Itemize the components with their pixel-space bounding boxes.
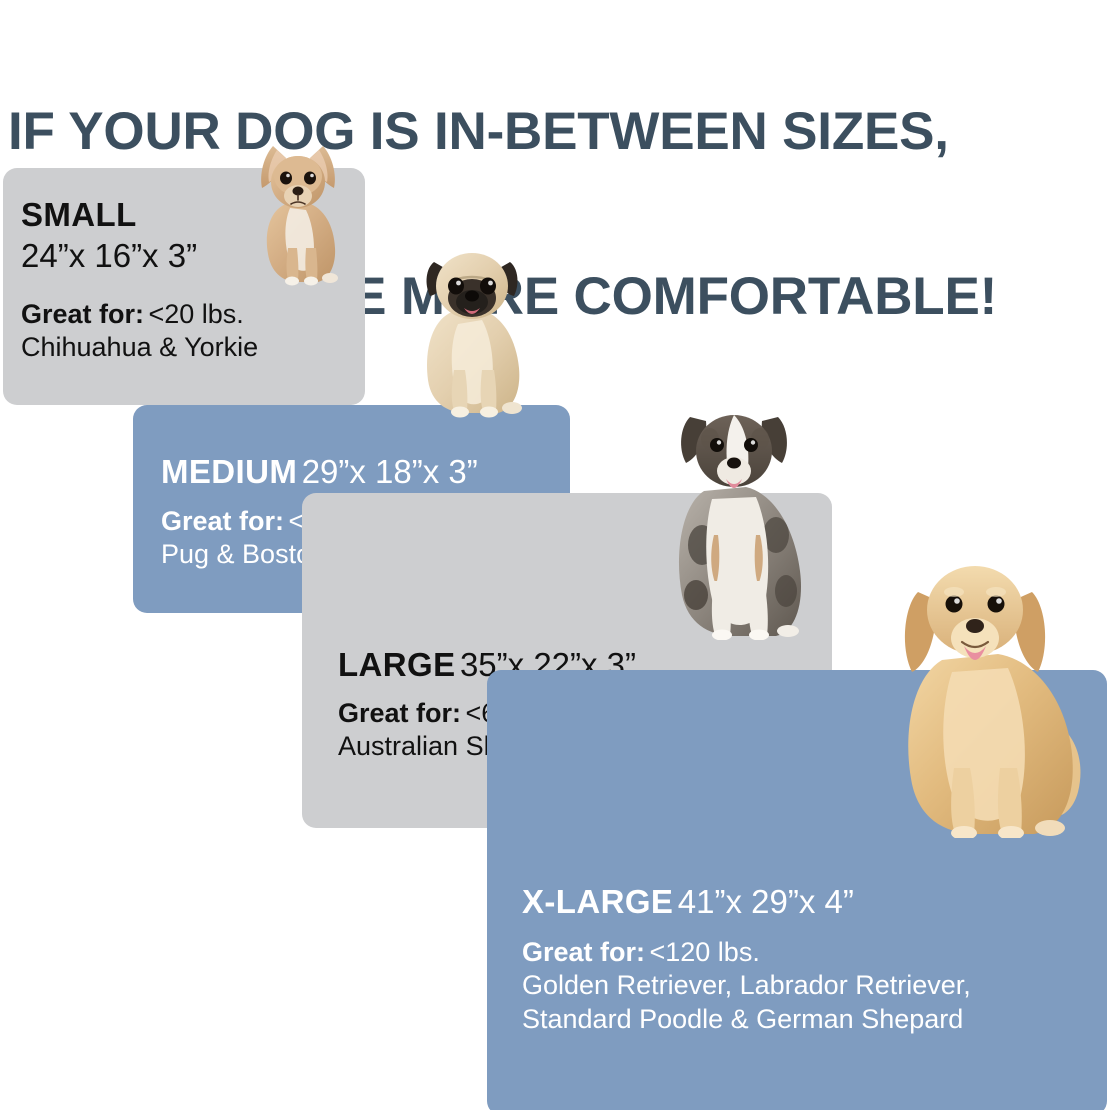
size-card-small: SMALL 24”x 16”x 3” Great for: <20 lbs. C… xyxy=(3,168,365,405)
breeds-xlarge-line-1: Golden Retriever, Labrador Retriever, xyxy=(522,969,971,1002)
size-name-large: LARGE xyxy=(338,646,456,683)
size-name-xlarge: X-LARGE xyxy=(522,883,673,920)
great-for-label: Great for: xyxy=(161,506,284,536)
size-name-medium: MEDIUM xyxy=(161,453,297,490)
size-card-xlarge: X-LARGE 41”x 29”x 4” Great for: <120 lbs… xyxy=(487,670,1107,1110)
great-for-block-small: Great for: <20 lbs. Chihuahua & Yorkie xyxy=(21,298,258,365)
breeds-small: Chihuahua & Yorkie xyxy=(21,331,258,364)
size-name-small: SMALL xyxy=(21,196,137,233)
size-dimensions-small: 24”x 16”x 3” xyxy=(21,239,258,272)
great-for-block-xlarge: Great for: <120 lbs. Golden Retriever, L… xyxy=(522,936,971,1036)
great-for-label: Great for: xyxy=(338,698,461,728)
breeds-xlarge-line-2: Standard Poodle & German Shepard xyxy=(522,1003,971,1036)
spacer xyxy=(522,918,971,936)
size-title-row-medium: MEDIUM 29”x 18”x 3” xyxy=(161,455,478,488)
size-title-row-small: SMALL xyxy=(21,198,258,231)
weight-limit-small: <20 lbs. xyxy=(148,299,243,329)
weight-limit-xlarge: <120 lbs. xyxy=(649,937,759,967)
great-for-line-xlarge: Great for: <120 lbs. xyxy=(522,936,971,969)
size-card-xlarge-content: X-LARGE 41”x 29”x 4” Great for: <120 lbs… xyxy=(522,885,971,1036)
great-for-label: Great for: xyxy=(21,299,144,329)
size-card-small-content: SMALL 24”x 16”x 3” Great for: <20 lbs. C… xyxy=(21,198,258,365)
great-for-line-small: Great for: <20 lbs. xyxy=(21,298,258,331)
size-dimensions-xlarge: 41”x 29”x 4” xyxy=(678,883,854,920)
size-title-row-xlarge: X-LARGE 41”x 29”x 4” xyxy=(522,885,971,918)
spacer xyxy=(21,272,258,298)
great-for-label: Great for: xyxy=(522,937,645,967)
size-guide-infographic: IF YOUR DOG IS IN-BETWEEN SIZES, SIZE UP… xyxy=(0,0,1111,1110)
headline-line-1: IF YOUR DOG IS IN-BETWEEN SIZES, xyxy=(8,104,1108,159)
size-dimensions-medium: 29”x 18”x 3” xyxy=(302,453,478,490)
